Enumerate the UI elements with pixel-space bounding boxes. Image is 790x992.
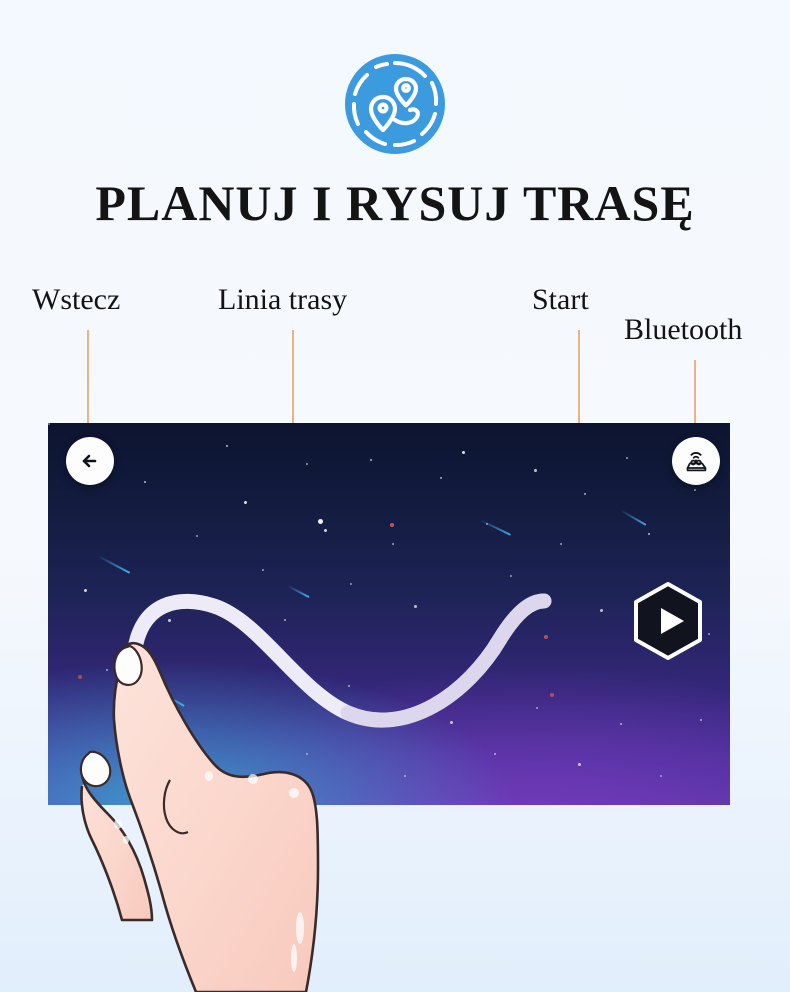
play-triangle-icon <box>632 582 704 660</box>
callout-label-start: Start <box>532 283 589 317</box>
callout-label-bluetooth: Bluetooth <box>624 313 742 347</box>
arrow-left-icon <box>77 448 103 474</box>
callout-label-routeline: Linia trasy <box>218 283 347 317</box>
page-title: PLANUJ I RYSUJ TRASĘ <box>0 175 790 231</box>
map-route-pins-icon <box>343 52 447 156</box>
bluetooth-button[interactable] <box>672 437 720 485</box>
drawn-route-path <box>48 423 730 805</box>
device-screen-panel <box>48 423 730 805</box>
app-logo <box>0 52 790 156</box>
rc-car-wireless-icon <box>681 446 711 476</box>
back-button[interactable] <box>66 437 114 485</box>
start-button[interactable] <box>632 582 704 660</box>
page-background: PLANUJ I RYSUJ TRASĘ Wstecz Linia trasy … <box>0 0 790 992</box>
callout-label-back: Wstecz <box>32 283 120 317</box>
